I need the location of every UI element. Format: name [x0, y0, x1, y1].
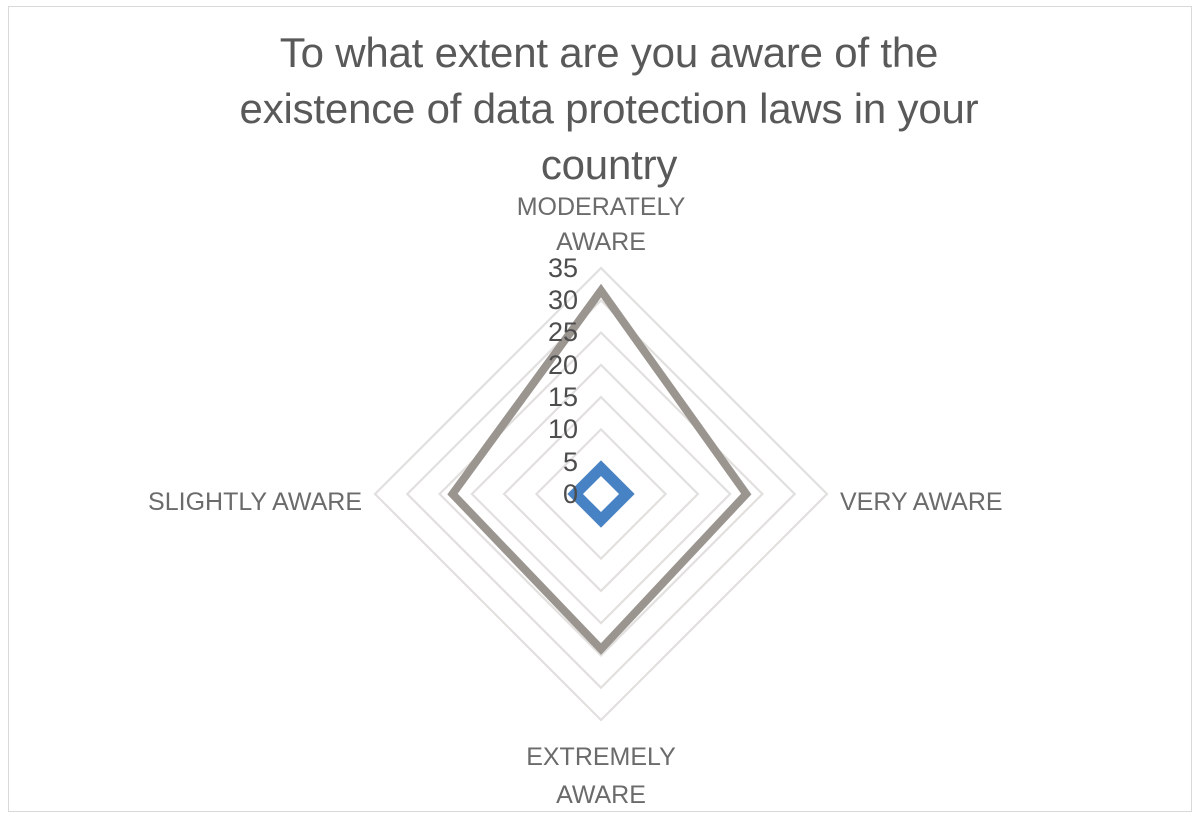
axis-label-moderately-aware-line1: MODERATELY [517, 193, 686, 221]
tick-label-15: 15 [548, 382, 578, 412]
tick-label-35: 35 [548, 253, 578, 283]
axis-label-slightly-aware: SLIGHTLY AWARE [148, 488, 362, 516]
tick-label-10: 10 [548, 414, 578, 444]
tick-label-30: 30 [548, 285, 578, 315]
chart-page: To what extent are you aware of the exis… [0, 0, 1200, 820]
gridline-ring-15 [504, 397, 698, 591]
axis-label-extremely-aware-line1: EXTREMELY [526, 743, 676, 771]
axis-label-very-aware: VERY AWARE [840, 488, 1003, 516]
tick-label-0: 0 [563, 479, 578, 509]
gridline-ring-10 [536, 429, 665, 558]
tick-label-5: 5 [563, 447, 578, 477]
axis-label-moderately-aware-line2: AWARE [556, 228, 646, 256]
axis-label-extremely-aware-line2: AWARE [556, 781, 646, 809]
tick-label-25: 25 [548, 317, 578, 347]
gridline-ring-30 [407, 300, 794, 687]
radar-chart-plot: 35 30 25 20 15 10 5 0 MODERATELY AWARE V… [0, 0, 1200, 820]
series-blue-polygon [575, 468, 627, 520]
tick-label-20: 20 [548, 350, 578, 380]
gridline-ring-20 [472, 365, 730, 623]
